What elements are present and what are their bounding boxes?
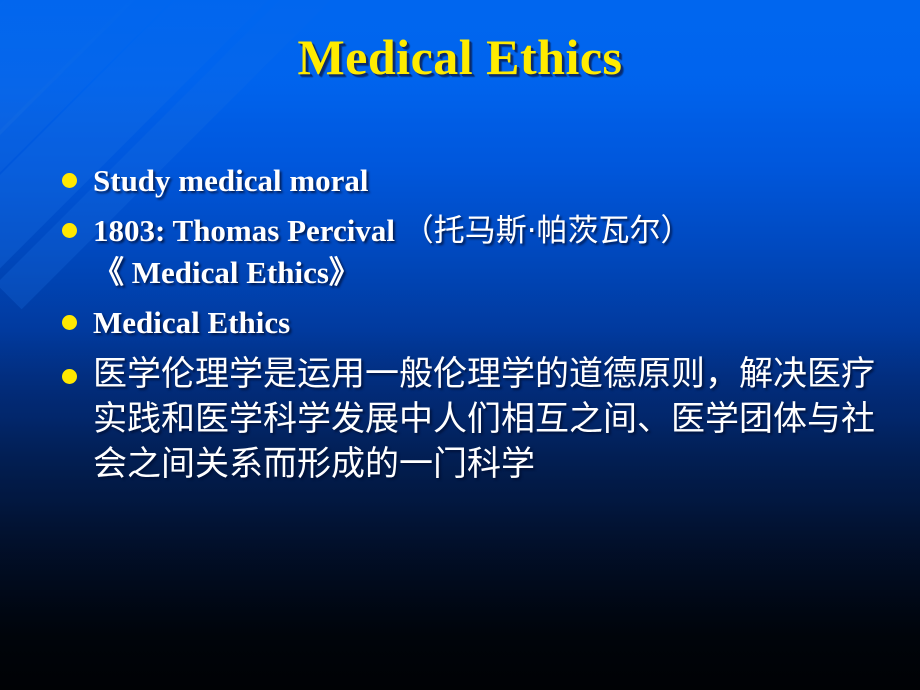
bullet-text: Study medical moral bbox=[93, 160, 369, 202]
bullet-text: 1803: Thomas Percival （托马斯·帕茨瓦尔） 《 Medic… bbox=[93, 210, 692, 294]
bullet-item-definition-cn: 医学伦理学是运用一般伦理学的道德原则，解决医疗实践和医学科学发展中人们相互之间、… bbox=[62, 352, 902, 487]
bullet-text: Medical Ethics bbox=[93, 302, 290, 344]
bullet-text-line1-cjk: （托马斯·帕茨瓦尔） bbox=[403, 213, 692, 249]
bullet-item-percival-1803: 1803: Thomas Percival （托马斯·帕茨瓦尔） 《 Medic… bbox=[62, 210, 902, 294]
presentation-slide: Medical Ethics Study medical moral 1803:… bbox=[0, 0, 920, 690]
bullet-dot-icon bbox=[62, 223, 77, 238]
bullet-text: 医学伦理学是运用一般伦理学的道德原则，解决医疗实践和医学科学发展中人们相互之间、… bbox=[93, 352, 902, 487]
bullet-dot-icon bbox=[62, 173, 77, 188]
slide-title: Medical Ethics bbox=[0, 28, 920, 86]
bullet-dot-icon bbox=[62, 315, 77, 330]
slide-body: Study medical moral 1803: Thomas Perciva… bbox=[62, 160, 902, 495]
bullet-text-line2: 《 Medical Ethics》 bbox=[93, 252, 692, 294]
bullet-item-study-medical-moral: Study medical moral bbox=[62, 160, 902, 202]
bullet-dot-icon bbox=[62, 369, 77, 384]
bullet-text-line1-latin: 1803: Thomas Percival bbox=[93, 213, 403, 248]
bullet-item-medical-ethics: Medical Ethics bbox=[62, 302, 902, 344]
